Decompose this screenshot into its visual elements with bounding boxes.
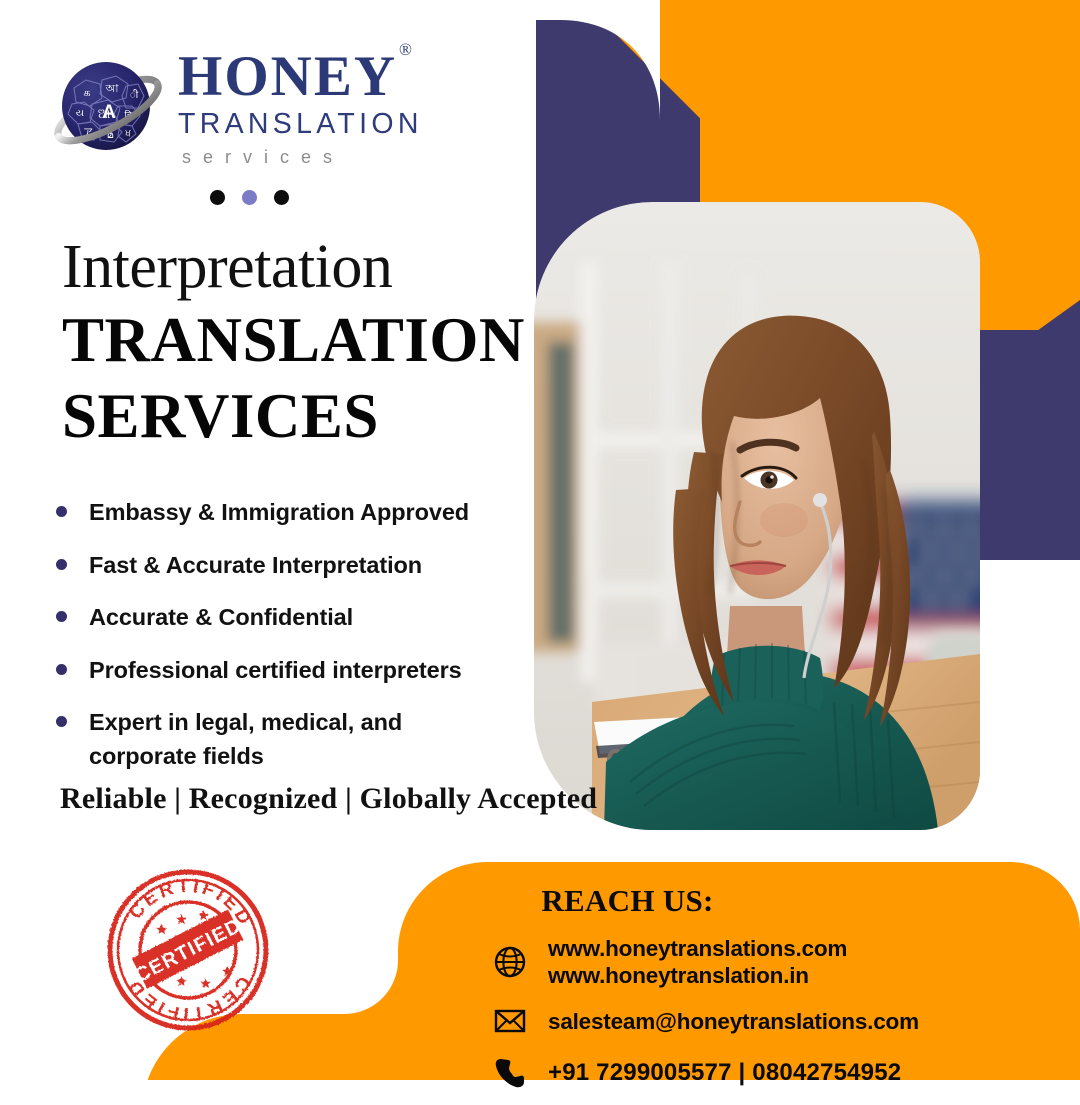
page-title: Interpretation TRANSLATION SERVICES [62,236,542,450]
logo-name-primary: HONEY® [178,50,410,105]
list-item: Embassy & Immigration Approved [56,496,536,530]
phone-label: +91 7299005577 | 08042754952 [548,1059,901,1088]
headline-bold-line-2: SERVICES [62,382,542,450]
list-item-label: Fast & Accurate Interpretation [89,549,422,583]
logo-name-secondary: TRANSLATION [178,107,423,143]
website-line-2: www.honeytranslation.in [548,962,847,989]
email-label: salesteam@honeytranslations.com [548,1008,919,1035]
list-item: Expert in legal, medical, and corporate … [56,706,536,773]
svg-text:আ: আ [105,82,119,95]
globe-icon [490,942,530,982]
dot-1 [210,190,225,205]
tagline: Reliable | Recognized | Globally Accepte… [60,782,597,816]
list-item: Professional certified interpreters [56,654,536,688]
svg-text:ी: ी [130,89,139,101]
list-item-label: Professional certified interpreters [89,654,462,688]
brand-logo: க আ ी ય ଆ हि ア മ ਖ A HONEY® [52,48,472,205]
envelope-icon [490,1001,530,1041]
logo-name-tertiary: services [178,147,423,168]
dot-3 [274,190,289,205]
contact-footer: REACH US: www.honeytranslations.com www.… [0,860,1080,1080]
headline-script-line: Interpretation [62,236,542,298]
feature-list: Embassy & Immigration Approved Fast & Ac… [56,496,536,793]
website-label: www.honeytranslations.com www.honeytrans… [548,935,847,989]
list-item-label: Embassy & Immigration Approved [89,496,469,530]
list-item: Accurate & Confidential [56,601,536,635]
dot-2 [242,190,257,205]
svg-text:A: A [102,102,116,123]
svg-text:ਖ: ਖ [124,129,131,139]
svg-text:ય: ય [76,108,84,119]
bullet-dot-icon [56,559,67,570]
bullet-dot-icon [56,716,67,727]
contact-row-website[interactable]: www.honeytranslations.com www.honeytrans… [490,935,1080,989]
list-item-label: Expert in legal, medical, and corporate … [89,706,449,773]
globe-languages-icon: க আ ी ય ଆ हि ア മ ਖ A [52,52,164,164]
bullet-dot-icon [56,506,67,517]
decorative-dots [52,190,472,205]
headline-bold-line-1: TRANSLATION [62,306,542,374]
phone-icon [490,1053,530,1093]
interpreter-photo [534,202,980,830]
registered-trademark-icon: ® [399,40,412,59]
bullet-dot-icon [56,611,67,622]
website-line-1: www.honeytranslations.com [548,936,847,961]
bullet-dot-icon [56,664,67,675]
contact-row-phone[interactable]: +91 7299005577 | 08042754952 [490,1053,1080,1093]
reach-us-heading: REACH US: [450,860,805,919]
list-item: Fast & Accurate Interpretation [56,549,536,583]
list-item-label: Accurate & Confidential [89,601,353,635]
contact-row-email[interactable]: salesteam@honeytranslations.com [490,1001,1080,1041]
svg-text:க: க [83,86,90,99]
